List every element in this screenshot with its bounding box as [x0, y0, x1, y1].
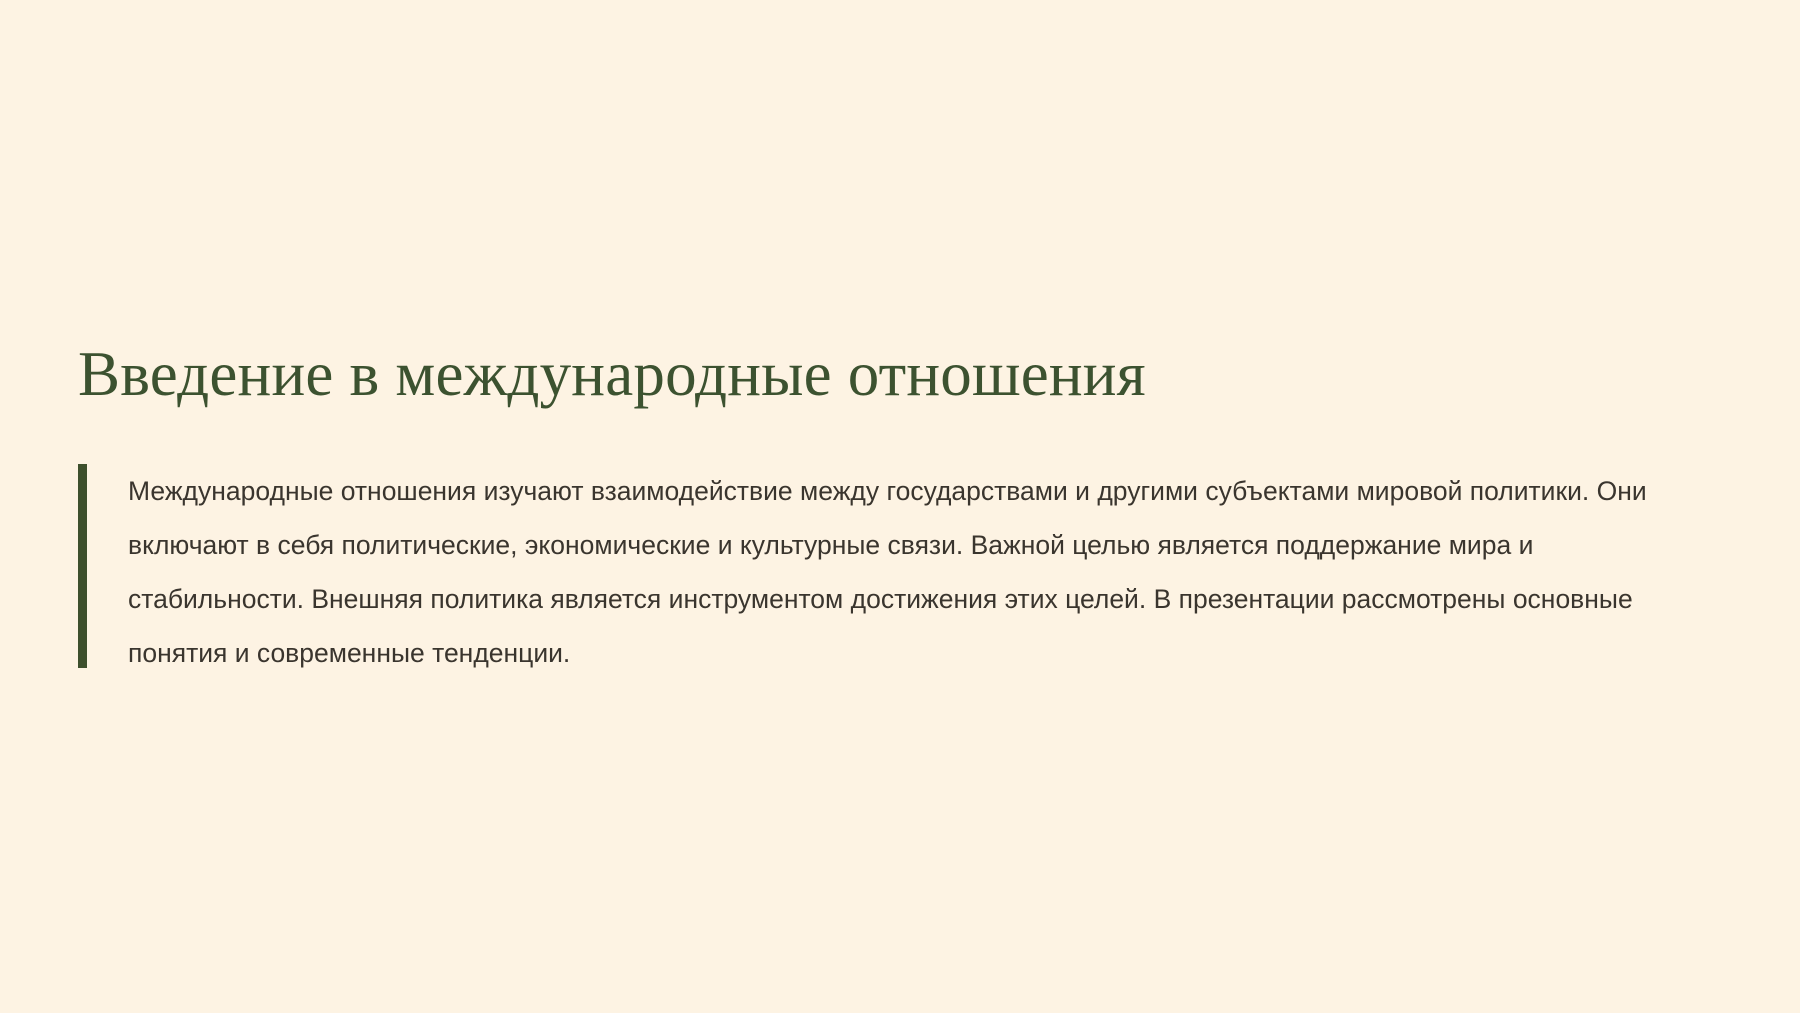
body-paragraph: Международные отношения изучают взаимоде… — [128, 464, 1698, 680]
accent-bar — [78, 464, 87, 668]
page-title: Введение в международные отношения — [78, 340, 1698, 408]
slide-content-area: Введение в международные отношения Между… — [78, 340, 1698, 680]
body-text-block: Международные отношения изучают взаимоде… — [78, 464, 1698, 680]
presentation-slide: Введение в международные отношения Между… — [0, 0, 1800, 1013]
